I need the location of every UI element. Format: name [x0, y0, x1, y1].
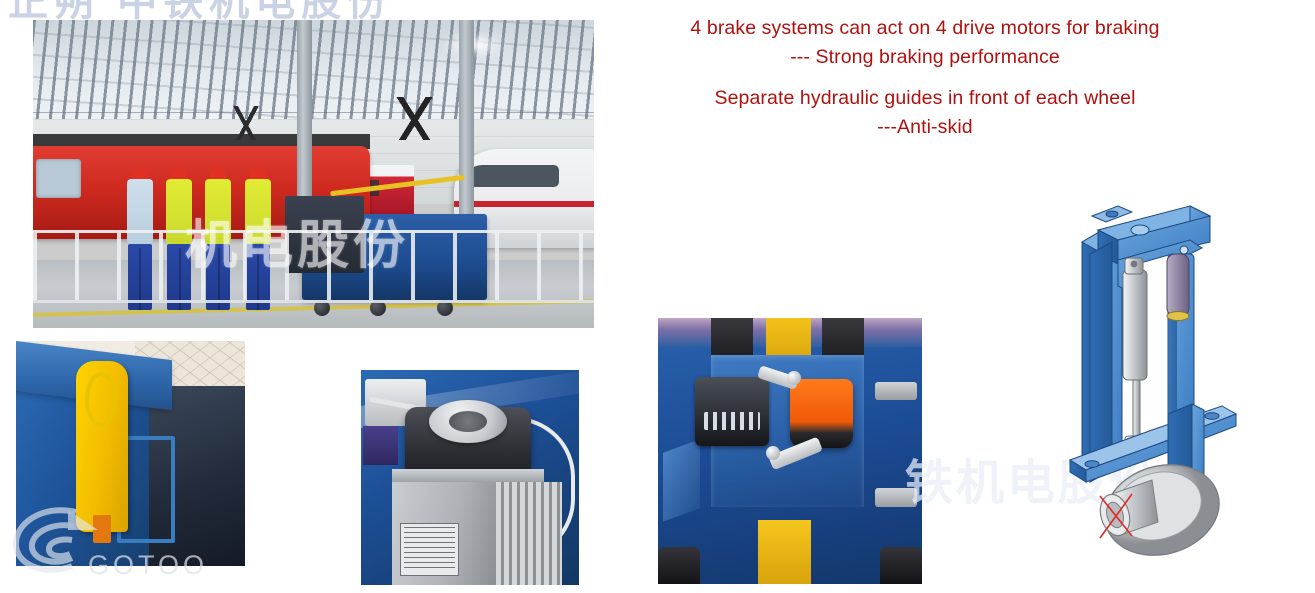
- headline-line-1: 4 brake systems can act on 4 drive motor…: [620, 14, 1230, 43]
- control-panel-photo: [658, 318, 922, 584]
- safety-railing: [33, 230, 594, 304]
- headline-line-3: Separate hydraulic guides in front of ea…: [620, 84, 1230, 113]
- headline-line-4: ---Anti-skid: [620, 113, 1230, 142]
- yellow-guide-top: [766, 318, 811, 361]
- hall-pillar: [459, 20, 474, 242]
- metal-bracket: [875, 382, 917, 401]
- cad-top-tab: [1092, 206, 1132, 222]
- motor-photo: [361, 370, 579, 585]
- display-unit: [695, 377, 769, 446]
- yellow-guide-bottom: [758, 520, 811, 584]
- wheel: [880, 547, 922, 584]
- clamp-photo: [16, 341, 245, 566]
- pantograph-icon: [207, 106, 286, 140]
- motor-nameplate: [400, 523, 459, 577]
- cooling-fins: [496, 482, 561, 585]
- yellow-clamp-hook: [76, 361, 129, 532]
- headline-text-block: 4 brake systems can act on 4 drive motor…: [620, 14, 1230, 142]
- pantograph-icon: [370, 97, 460, 140]
- catenary-wire: [33, 112, 594, 113]
- wheel: [658, 547, 700, 584]
- orange-beacon-light: [790, 379, 853, 448]
- lever-knob: [766, 446, 780, 460]
- mounting-plate: [392, 469, 545, 482]
- brake-cap: [429, 400, 507, 443]
- headline-line-2: --- Strong braking performance: [620, 43, 1230, 72]
- hydraulic-guide-assembly: [1040, 192, 1290, 582]
- slide-canvas: 正朔 中铁机电股份: [0, 0, 1315, 592]
- cad-bushing: [1167, 254, 1189, 321]
- side-fin: [663, 439, 700, 522]
- metal-bracket: [875, 488, 917, 507]
- depot-roof: [33, 20, 594, 122]
- cad-svg: [1040, 192, 1290, 582]
- cad-hydraulic-cylinder: [1123, 258, 1147, 458]
- purple-component: [363, 426, 398, 465]
- depot-photo: [33, 20, 594, 328]
